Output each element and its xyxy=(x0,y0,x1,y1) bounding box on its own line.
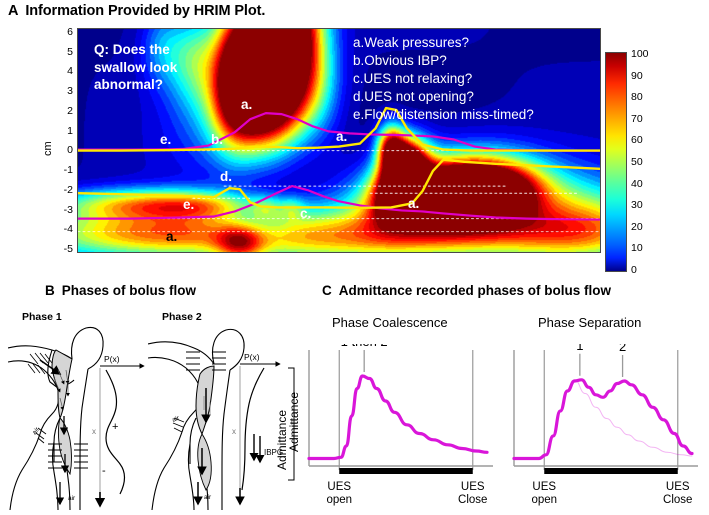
hrim-colorbar-group: 1009080706050403020100 xyxy=(605,52,705,274)
colorbar-tick: 60 xyxy=(631,134,643,146)
colorbar-tick: 70 xyxy=(631,113,643,125)
hrim-y-axis-ticks: 6543210-1-2-3-4-5 xyxy=(53,28,73,253)
ues-close-label: UES xyxy=(461,481,485,493)
phase-2-diagram: P(x) x IBPG air air Admittance xyxy=(148,322,298,510)
hrim-y-tick: 3 xyxy=(67,85,73,97)
ues-close-label: Close xyxy=(663,494,692,506)
hrim-trace xyxy=(78,113,600,150)
ues-open-label: UES xyxy=(327,481,351,493)
admittance-chart-coalescence: 1 then 2UESopenUESClose xyxy=(295,344,495,510)
hrim-trace xyxy=(78,108,600,151)
svg-text:x: x xyxy=(92,427,96,436)
hrim-trace-overlay xyxy=(78,29,600,252)
panel-a-title-text: Information Provided by HRIM Plot. xyxy=(25,3,265,19)
ues-open-label: open xyxy=(531,494,557,506)
ues-open-bar xyxy=(544,468,678,474)
svg-text:P(x): P(x) xyxy=(244,352,260,362)
colorbar-tick: 90 xyxy=(631,70,643,82)
hrim-y-tick: 4 xyxy=(67,65,73,77)
hrim-y-tick: -4 xyxy=(64,223,73,235)
hrim-y-tick: 0 xyxy=(67,144,73,156)
phase-separation-title: Phase Separation xyxy=(538,315,641,330)
colorbar-tick: 50 xyxy=(631,156,643,168)
panel-c-title: CAdmittance recorded phases of bolus flo… xyxy=(322,283,611,298)
colorbar-tick: 0 xyxy=(631,264,637,276)
hrim-y-tick: -5 xyxy=(64,243,73,255)
admittance-curve xyxy=(514,380,692,459)
hrim-y-tick: 1 xyxy=(67,125,73,137)
colorbar-tick: 10 xyxy=(631,242,643,254)
svg-text:x: x xyxy=(232,427,236,436)
phase-1-diagram: P(x) x + - air air xyxy=(8,322,158,510)
svg-text:-: - xyxy=(102,465,106,477)
colorbar-tick: 100 xyxy=(631,48,649,60)
svg-text:air: air xyxy=(204,494,212,501)
peak-label: 2 xyxy=(619,344,626,354)
hrim-heatmap: Q: Does the swallow look abnormal? a.Wea… xyxy=(77,28,601,253)
panel-b-title-text: Phases of bolus flow xyxy=(62,283,196,298)
panel-b-letter: B xyxy=(45,283,55,298)
peak-label: 1 xyxy=(576,344,583,353)
panel-c-letter: C xyxy=(322,283,332,298)
hrim-y-tick: -1 xyxy=(64,164,73,176)
ues-open-label: UES xyxy=(532,481,556,493)
hrim-trace xyxy=(78,186,600,219)
hrim-y-tick: 2 xyxy=(67,105,73,117)
svg-text:air: air xyxy=(171,414,181,424)
svg-text:P(x): P(x) xyxy=(104,354,120,364)
hrim-colorbar-ticks: 1009080706050403020100 xyxy=(631,52,671,272)
hrim-y-tick: 6 xyxy=(67,26,73,38)
svg-text:+: + xyxy=(112,421,118,433)
hrim-y-tick: 5 xyxy=(67,46,73,58)
admittance-curve xyxy=(309,376,487,459)
ues-close-label: UES xyxy=(666,481,690,493)
ues-open-label: open xyxy=(326,494,352,506)
colorbar-tick: 20 xyxy=(631,221,643,233)
svg-text:air: air xyxy=(68,495,76,502)
hrim-colorbar xyxy=(605,52,627,272)
admittance-chart-separation: 12UESopenUESClose xyxy=(500,344,700,510)
ues-close-label: Close xyxy=(458,494,487,506)
phase-coalescence-title: Phase Coalescence xyxy=(332,315,448,330)
hrim-y-tick: -2 xyxy=(64,184,73,196)
peak-label: 1 then 2 xyxy=(341,344,388,349)
colorbar-tick: 40 xyxy=(631,178,643,190)
panel-c-title-text: Admittance recorded phases of bolus flow xyxy=(339,283,611,298)
hrim-y-tick: -3 xyxy=(64,204,73,216)
panel-b-title: BPhases of bolus flow xyxy=(45,283,196,298)
colorbar-tick: 30 xyxy=(631,199,643,211)
panel-a-letter: A xyxy=(8,3,18,19)
hrim-plot-panel: cm 6543210-1-2-3-4-5 Q: Does the swallow… xyxy=(0,24,709,272)
colorbar-tick: 80 xyxy=(631,91,643,103)
panel-a-title: AInformation Provided by HRIM Plot. xyxy=(8,3,265,19)
ues-open-bar xyxy=(339,468,473,474)
